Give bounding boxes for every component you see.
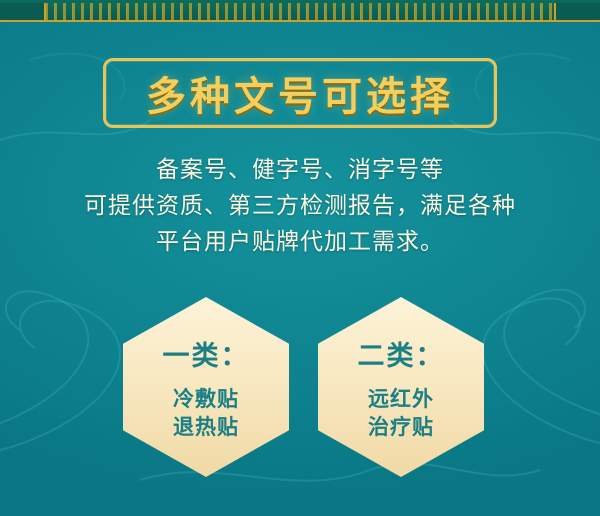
paragraph-line-2: 可提供资质、第三方检测报告，满足各种 xyxy=(40,188,560,224)
description-paragraph: 备案号、健字号、消字号等 可提供资质、第三方检测报告，满足各种 平台用户贴牌代加… xyxy=(40,152,560,260)
border-top-edge xyxy=(0,0,600,3)
border-corner-right xyxy=(554,0,600,20)
hexagon-2-item-1: 远红外 xyxy=(368,385,434,413)
paragraph-line-1: 备案号、健字号、消字号等 xyxy=(40,152,560,188)
border-pattern xyxy=(0,0,600,20)
top-ornamental-border xyxy=(0,0,600,22)
hexagon-2-item-2: 治疗贴 xyxy=(368,413,434,441)
paragraph-line-3: 平台用户贴牌代加工需求。 xyxy=(40,224,560,260)
border-corner-left xyxy=(0,0,46,20)
poster-canvas: 多种文号可选择 备案号、健字号、消字号等 可提供资质、第三方检测报告，满足各种 … xyxy=(0,0,600,516)
category-hexagon-1[interactable]: 一类： 冷敷贴 退热贴 xyxy=(123,297,289,477)
hexagon-1-heading: 一类： xyxy=(163,334,250,373)
hexagon-2-heading: 二类： xyxy=(358,334,445,373)
title-plaque: 多种文号可选择 xyxy=(103,58,497,128)
hexagon-1-item-1: 冷敷贴 xyxy=(173,385,239,413)
hexagon-1-item-2: 退热贴 xyxy=(173,413,239,441)
page-title: 多种文号可选择 xyxy=(106,64,494,122)
category-hexagon-2[interactable]: 二类： 远红外 治疗贴 xyxy=(318,297,484,477)
